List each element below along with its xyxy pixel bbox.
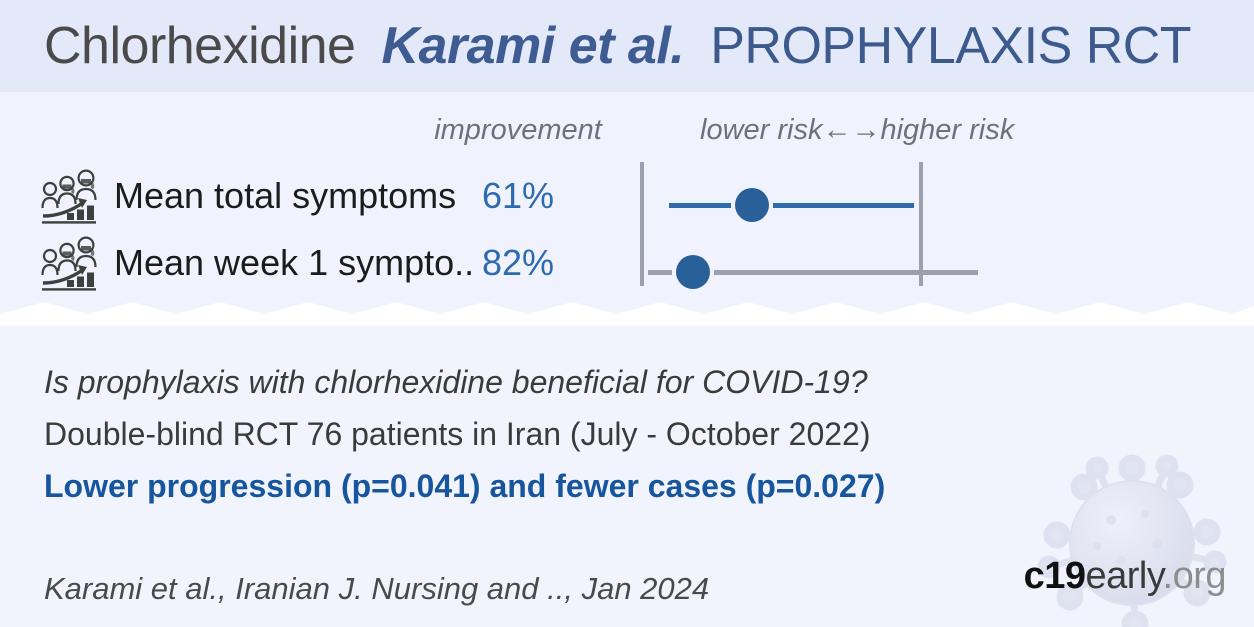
study-question: Is prophylaxis with chlorhexidine benefi… [44,364,868,401]
effect-marker [735,188,769,222]
study-type-badge: PROPHYLAXIS RCT [710,20,1191,72]
header-title-group: Chlorhexidine Karami et al. PROPHYLAXIS … [0,20,1191,72]
outcome-label: Mean total symptoms [114,162,456,229]
outcome-improvement-value: 82% [408,229,628,296]
outcome-improvement-value: 61% [408,162,628,229]
study-author: Karami et al. [381,20,684,72]
effect-marker [676,255,710,289]
symptoms-icon [40,233,102,291]
symptoms-icon [40,166,102,224]
arrow-left-icon: ← [822,114,851,146]
column-header-improvement: improvement [408,114,628,147]
study-citation: Karami et al., Iranian J. Nursing and ..… [44,571,709,607]
higher-risk-label: higher risk [880,114,1014,146]
c19early-logo[interactable]: c19early.org [1024,555,1226,598]
ci-line-right [773,203,914,208]
ci-line-right [714,270,978,275]
outcome-row[interactable]: Mean total symptoms 61% [0,162,1254,229]
logo-early: early [1085,555,1162,597]
logo-c19: c19 [1024,555,1086,597]
plot-null-effect-line [919,162,923,286]
card-header: Chlorhexidine Karami et al. PROPHYLAXIS … [0,0,1254,92]
plot-left-boundary-line [640,162,644,286]
study-result: Lower progression (p=0.041) and fewer ca… [44,468,885,505]
treatment-name: Chlorhexidine [44,20,355,72]
study-design: Double-blind RCT 76 patients in Iran (Ju… [44,416,870,453]
forest-plot-section: improvement lower risk←→higher risk [0,92,1254,320]
arrow-right-icon: → [851,114,880,146]
outcome-row[interactable]: Mean week 1 sympto.. 82% [0,229,1254,296]
ci-line-left [648,270,672,275]
lower-risk-label: lower risk [700,114,822,146]
ci-line-left [669,203,731,208]
column-header-risk-direction: lower risk←→higher risk [700,114,1014,147]
logo-org: .org [1163,555,1226,597]
study-summary-card: Chlorhexidine Karami et al. PROPHYLAXIS … [0,0,1254,627]
